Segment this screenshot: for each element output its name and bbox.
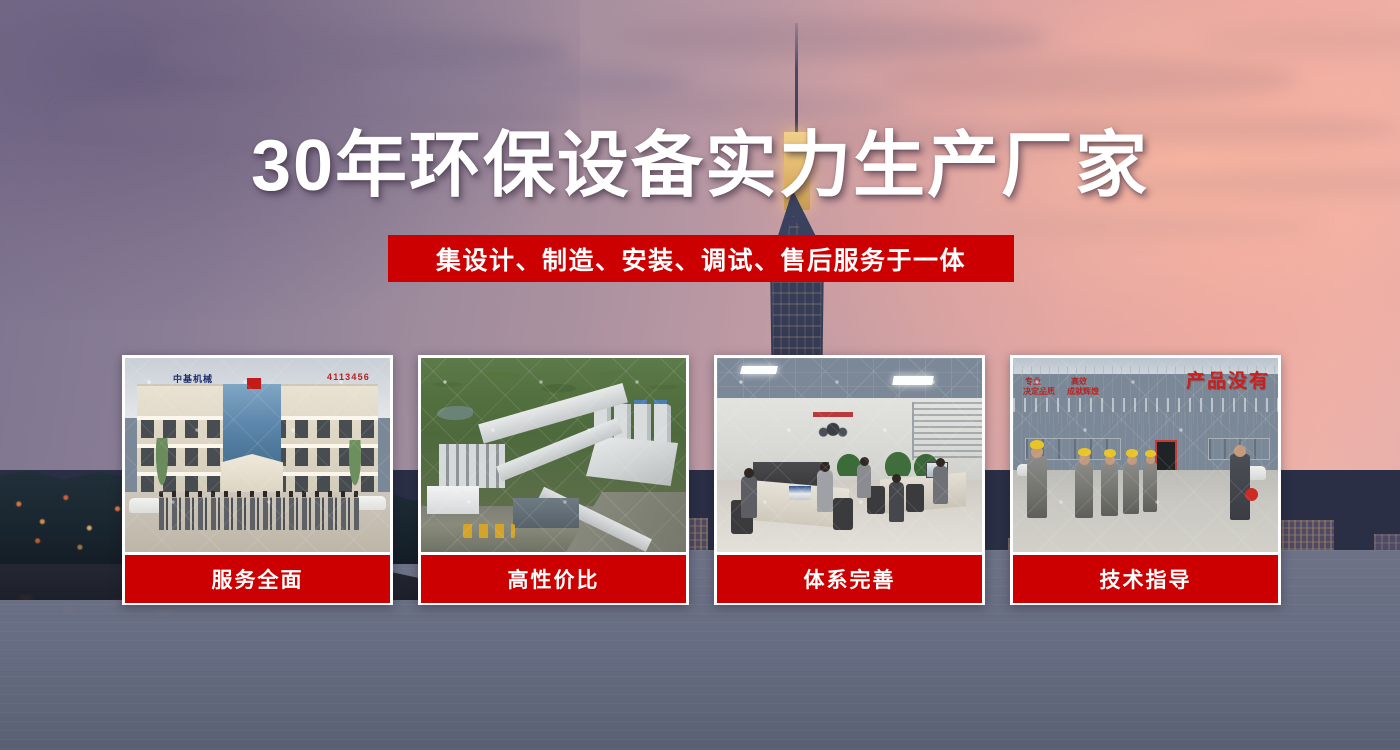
- wall-decal: [813, 412, 853, 440]
- building-sign-phone: 4113456: [327, 372, 370, 382]
- office-worker-head: [860, 457, 869, 466]
- factory-wall-banner: 产品没有: [1186, 366, 1270, 393]
- office-worker: [817, 470, 833, 512]
- red-hardhat-icon: [1245, 488, 1258, 501]
- office-worker: [933, 466, 948, 504]
- card-caption: 服务全面: [125, 555, 390, 603]
- subtitle-text: 集设计、制造、安装、调试、售后服务于一体: [436, 241, 966, 277]
- card-caption: 技术指导: [1013, 555, 1278, 603]
- office-worker: [889, 482, 904, 522]
- ceiling-light: [740, 366, 778, 374]
- parked-car: [129, 498, 163, 513]
- feature-card[interactable]: 专业 决定品质 高效 成就辉煌 产品没有: [1010, 355, 1281, 605]
- card-photo-office-interior: [717, 358, 982, 552]
- feature-card-list: 中基机械 4113456 服务全面: [122, 355, 1276, 605]
- hardhat-icon: [1078, 448, 1091, 456]
- feature-card[interactable]: 中基机械 4113456 服务全面: [122, 355, 393, 605]
- feature-card[interactable]: 高性价比: [418, 355, 689, 605]
- worker: [1123, 462, 1139, 514]
- worker: [1027, 456, 1047, 518]
- ceiling-light: [892, 376, 934, 385]
- factory-slogan: 决定品质: [1023, 386, 1055, 397]
- worker: [1101, 462, 1118, 516]
- worker: [1143, 462, 1157, 512]
- hardhat-icon: [1104, 449, 1116, 457]
- hardhat-icon: [1145, 450, 1156, 457]
- office-worker: [857, 464, 871, 498]
- factory-door: [1155, 440, 1177, 474]
- supervisor-head: [1234, 445, 1246, 457]
- page-title: 30年环保设备实力生产厂家: [0, 130, 1400, 202]
- office-worker: [741, 476, 757, 518]
- window-blinds: [912, 402, 982, 460]
- factory-slogan: 成就辉煌: [1067, 386, 1099, 397]
- office-chair: [833, 498, 853, 530]
- card-photo-company-building: 中基机械 4113456: [125, 358, 390, 552]
- office-chair: [906, 484, 924, 512]
- card-photo-workers-factory: 专业 决定品质 高效 成就辉煌 产品没有: [1013, 358, 1278, 552]
- office-worker-head: [892, 474, 901, 483]
- office-worker-head: [936, 458, 945, 467]
- staff-group: [159, 494, 359, 530]
- card-caption: 高性价比: [421, 555, 686, 603]
- hardhat-icon: [1126, 449, 1138, 457]
- card-photo-industrial-plant: [421, 358, 686, 552]
- flag-icon: [247, 378, 261, 389]
- subtitle-banner: 集设计、制造、安装、调试、售后服务于一体: [388, 235, 1014, 282]
- supervisor: [1230, 454, 1250, 520]
- office-worker-head: [744, 468, 754, 478]
- office-worker-head: [820, 462, 830, 472]
- yellow-machinery: [463, 524, 515, 538]
- hero-banner: 30年环保设备实力生产厂家 集设计、制造、安装、调试、售后服务于一体: [0, 0, 1400, 750]
- laptop: [789, 486, 811, 500]
- building-sign-logo: 中基机械: [173, 372, 213, 385]
- card-caption: 体系完善: [717, 555, 982, 603]
- feature-card[interactable]: 体系完善: [714, 355, 985, 605]
- worker: [1075, 462, 1093, 518]
- tower-spire: [795, 23, 798, 138]
- office-plant: [885, 452, 911, 476]
- hardhat-icon: [1030, 440, 1044, 449]
